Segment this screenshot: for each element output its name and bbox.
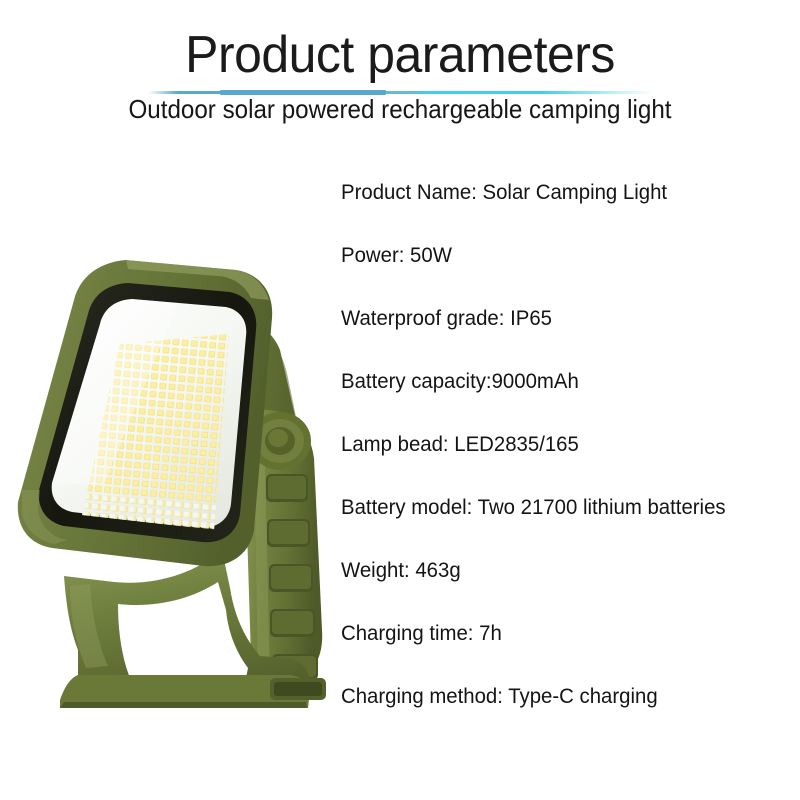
spec-list: Product Name: Solar Camping Light Power:… [341, 180, 800, 710]
product-parameters-page: Product parameters Outdoor solar powered… [0, 0, 800, 800]
spec-item-waterproof: Waterproof grade: IP65 [341, 306, 787, 332]
spec-item-battery-model: Battery model: Two 21700 lithium batteri… [341, 495, 787, 521]
page-header: Product parameters Outdoor solar powered… [0, 0, 800, 125]
product-illustration-svg [8, 238, 338, 723]
page-title: Product parameters [16, 0, 784, 84]
spec-item-battery-capacity: Battery capacity:9000mAh [341, 369, 787, 395]
spec-item-charging-time: Charging time: 7h [341, 621, 787, 647]
spec-item-lamp-bead: Lamp bead: LED2835/165 [341, 432, 787, 458]
spec-item-charging-method: Charging method: Type-C charging [341, 684, 787, 710]
product-image-solar-camping-light [8, 238, 338, 723]
spec-item-product-name: Product Name: Solar Camping Light [341, 180, 787, 206]
spec-item-weight: Weight: 463g [341, 558, 787, 584]
page-subtitle: Outdoor solar powered rechargeable campi… [28, 84, 772, 125]
lamp-head [18, 260, 272, 566]
spec-item-power: Power: 50W [341, 243, 787, 269]
